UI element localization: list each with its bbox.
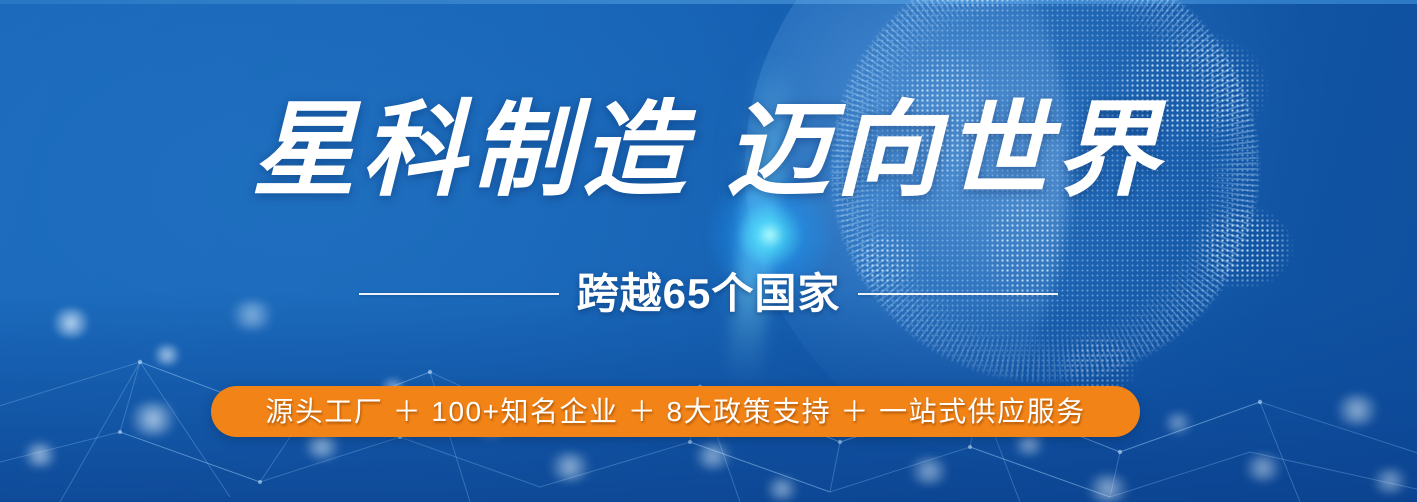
- features-pill-text: 源头工厂 ＋ 100+知名企业 ＋ 8大政策支持 ＋ 一站式供应服务: [265, 397, 1085, 427]
- divider-rule-left: [359, 293, 559, 295]
- divider-rule-right: [858, 293, 1058, 295]
- subtitle-row: 跨越65个国家: [0, 268, 1417, 320]
- subtitle: 跨越65个国家: [577, 268, 841, 320]
- banner-content: 星科制造迈向世界 跨越65个国家 源头工厂 ＋ 100+知名企业 ＋ 8大政策支…: [0, 0, 1417, 502]
- features-pill[interactable]: 源头工厂 ＋ 100+知名企业 ＋ 8大政策支持 ＋ 一站式供应服务: [211, 386, 1140, 437]
- headline-part-1: 星科制造: [251, 94, 691, 209]
- headline-part-2: 迈向世界: [726, 94, 1166, 209]
- promo-banner: 星科制造迈向世界 跨越65个国家 源头工厂 ＋ 100+知名企业 ＋ 8大政策支…: [0, 0, 1417, 502]
- headline: 星科制造迈向世界: [0, 96, 1417, 208]
